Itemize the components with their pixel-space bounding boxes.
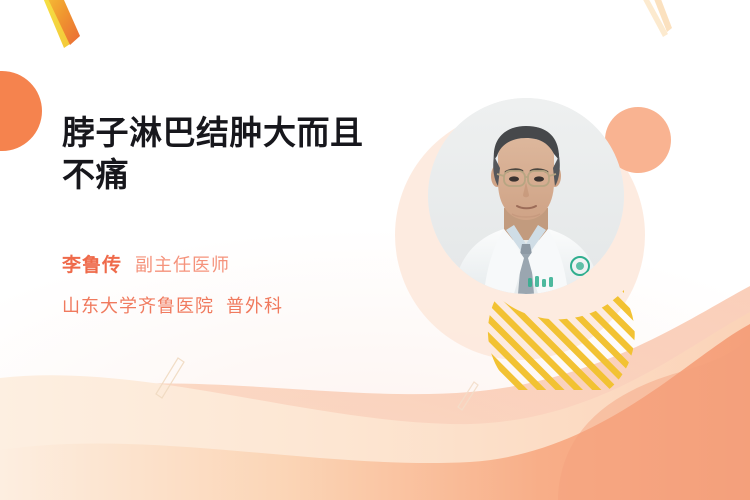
- doctor-department: 普外科: [226, 296, 283, 316]
- doctor-rank: 副主任医师: [135, 255, 230, 275]
- text-block: 脖子淋巴结肿大而且不痛 李鲁传副主任医师 山东大学齐鲁医院普外科: [62, 112, 422, 196]
- striped-arc-fill: [470, 280, 650, 390]
- page-title: 脖子淋巴结肿大而且不痛: [62, 112, 392, 196]
- doctor-name: 李鲁传: [62, 255, 122, 276]
- doctor-hospital: 山东大学齐鲁医院: [62, 296, 214, 316]
- doctor-credentials: 李鲁传副主任医师: [62, 250, 230, 277]
- doctor-info-card: 脖子淋巴结肿大而且不痛 李鲁传副主任医师 山东大学齐鲁医院普外科: [0, 0, 750, 500]
- doctor-photo-circle: [428, 98, 624, 294]
- doctor-portrait-illustration: [428, 98, 624, 294]
- doctor-photo: [428, 98, 624, 294]
- doctor-affiliation: 山东大学齐鲁医院普外科: [62, 292, 283, 318]
